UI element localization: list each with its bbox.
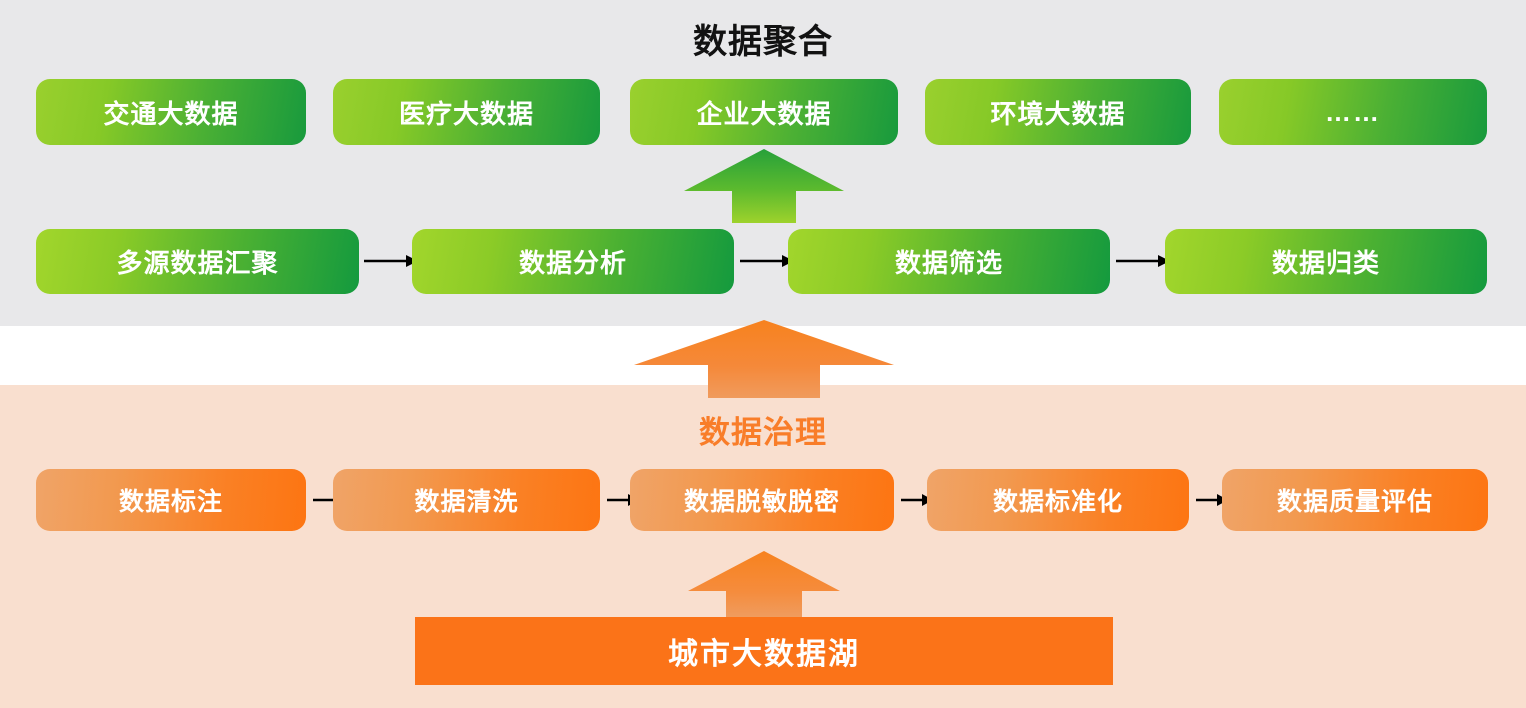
governance-box-data-quality-assessment[interactable]: 数据质量评估 <box>1222 469 1488 531</box>
pipeline-box-data-filtering-label: 数据筛选 <box>895 243 1003 280</box>
aggregation-up-block-arrow <box>684 149 844 223</box>
foundation-up-block-arrow <box>688 551 840 619</box>
governance-box-data-desensitization[interactable]: 数据脱敏脱密 <box>630 469 894 531</box>
aggregation-section-title: 数据聚合 <box>0 14 1526 63</box>
domain-box-more-label: …… <box>1325 97 1381 128</box>
domain-box-more[interactable]: …… <box>1219 79 1487 145</box>
connector-arrow-2 <box>740 252 794 272</box>
pipeline-box-data-classification-label: 数据归类 <box>1272 243 1380 280</box>
domain-box-enterprise[interactable]: 企业大数据 <box>630 79 898 145</box>
foundation-box-city-data-lake-label: 城市大数据湖 <box>668 629 860 673</box>
governance-box-data-desensitization-label: 数据脱敏脱密 <box>684 482 840 518</box>
diagram-canvas: 数据聚合 交通大数据 医疗大数据 企业大数据 环境大数据 …… 多源数据汇聚 <box>0 0 1526 708</box>
connector-arrow-1 <box>364 252 418 272</box>
governance-box-data-standardization-label: 数据标准化 <box>993 482 1123 518</box>
domain-box-environment[interactable]: 环境大数据 <box>925 79 1191 145</box>
pipeline-box-data-classification[interactable]: 数据归类 <box>1165 229 1487 294</box>
pipeline-box-data-analysis-label: 数据分析 <box>519 243 627 280</box>
pipeline-box-data-analysis[interactable]: 数据分析 <box>412 229 734 294</box>
governance-section-title: 数据治理 <box>0 407 1526 452</box>
domain-box-medical[interactable]: 医疗大数据 <box>333 79 600 145</box>
governance-box-data-labeling[interactable]: 数据标注 <box>36 469 306 531</box>
pipeline-box-data-filtering[interactable]: 数据筛选 <box>788 229 1110 294</box>
domain-box-traffic-label: 交通大数据 <box>103 94 238 131</box>
domain-box-enterprise-label: 企业大数据 <box>696 94 831 131</box>
governance-up-block-arrow <box>634 320 894 398</box>
pipeline-box-multisource-convergence[interactable]: 多源数据汇聚 <box>36 229 359 294</box>
governance-box-data-labeling-label: 数据标注 <box>119 482 223 518</box>
pipeline-box-multisource-convergence-label: 多源数据汇聚 <box>116 243 278 280</box>
foundation-box-city-data-lake[interactable]: 城市大数据湖 <box>415 617 1113 685</box>
connector-arrow-3 <box>1116 252 1170 272</box>
governance-box-data-standardization[interactable]: 数据标准化 <box>927 469 1189 531</box>
domain-box-medical-label: 医疗大数据 <box>399 94 534 131</box>
domain-box-traffic[interactable]: 交通大数据 <box>36 79 306 145</box>
governance-box-data-cleaning[interactable]: 数据清洗 <box>333 469 600 531</box>
domain-box-environment-label: 环境大数据 <box>990 94 1125 131</box>
governance-box-data-cleaning-label: 数据清洗 <box>414 482 518 518</box>
governance-box-data-quality-assessment-label: 数据质量评估 <box>1277 482 1433 518</box>
